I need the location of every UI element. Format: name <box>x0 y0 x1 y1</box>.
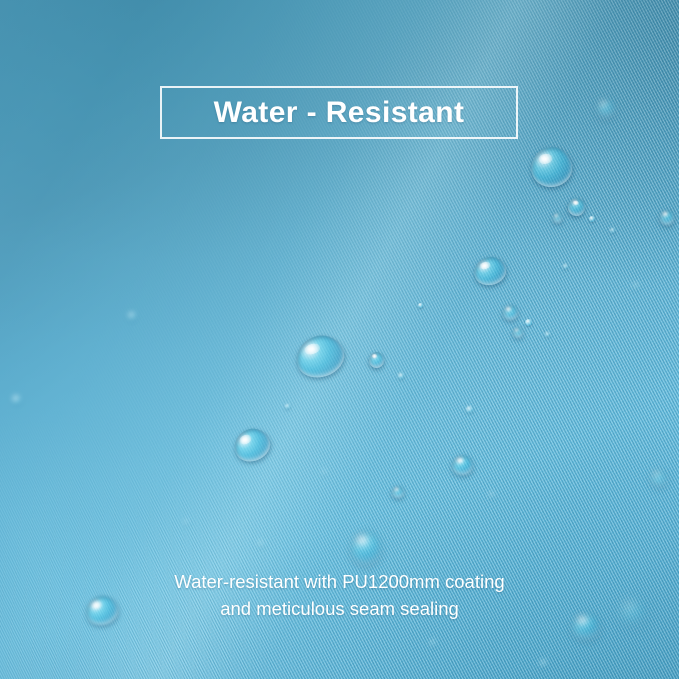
bead-center-c <box>545 332 550 337</box>
droplet-lower-mid-left <box>392 486 404 498</box>
droplet-bottom-center <box>351 531 381 565</box>
bead-right-upper-b <box>610 228 615 233</box>
bead-bottom-far-r <box>540 660 547 667</box>
bead-left-far <box>12 395 21 404</box>
bead-low-b <box>466 406 473 413</box>
droplet-far-right-edge <box>660 210 674 225</box>
bead-left-upper <box>128 312 136 320</box>
bead-top-right-a <box>563 264 568 269</box>
droplet-right-mid-small <box>503 305 518 320</box>
droplet-upper-right-small <box>553 213 562 223</box>
droplet-right-edge-low <box>651 470 667 486</box>
bead-bottom-b <box>184 520 189 525</box>
caption-line-1: Water-resistant with PU1200mm coating <box>0 568 679 595</box>
bead-center-b <box>525 319 532 326</box>
bead-right-upper-a <box>589 216 595 222</box>
bead-bottom-a <box>258 541 264 547</box>
bead-mid-right <box>398 373 404 379</box>
droplet-right-lower <box>513 327 523 338</box>
droplet-mid-lower <box>452 455 473 475</box>
bead-mid-left <box>285 404 290 409</box>
title-badge: Water - Resistant <box>160 86 518 139</box>
bead-bottom-mid <box>430 640 436 646</box>
page-title: Water - Resistant <box>214 96 465 130</box>
bead-low-a <box>322 470 327 475</box>
bead-low-c <box>489 492 495 498</box>
caption-line-2: and meticulous seam sealing <box>0 595 679 622</box>
water-resistant-feature-image: Water - Resistant Water-resistant with P… <box>0 0 679 679</box>
droplet-upper-far-right <box>597 99 615 117</box>
feature-caption: Water-resistant with PU1200mm coating an… <box>0 568 679 622</box>
bead-top-right-b <box>633 283 639 289</box>
bead-center-a <box>418 303 423 308</box>
droplet-center-satellite <box>369 352 384 368</box>
